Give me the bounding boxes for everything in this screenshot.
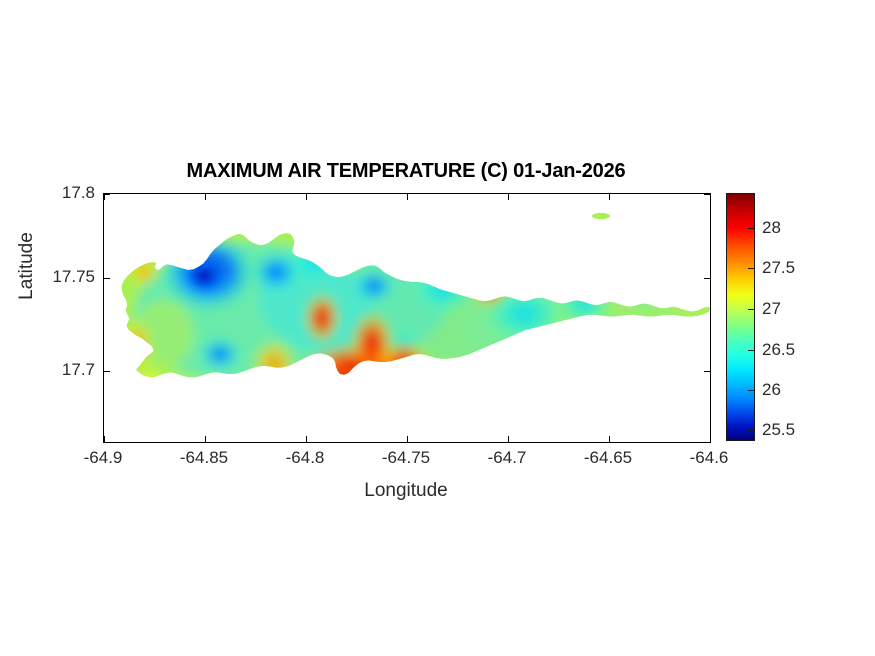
y-tick-mark xyxy=(104,194,110,195)
y-tick-label: 17.7 xyxy=(33,360,95,380)
colorbar-tick-mark xyxy=(748,430,755,431)
colorbar-tick-label: 26.5 xyxy=(762,340,795,360)
x-tick-mark xyxy=(407,436,408,442)
x-tick-mark xyxy=(609,194,610,200)
x-tick-label: -64.9 xyxy=(84,448,123,468)
x-tick-mark xyxy=(205,436,206,442)
x-tick-label: -64.65 xyxy=(584,448,632,468)
x-tick-mark xyxy=(508,436,509,442)
y-tick-mark xyxy=(704,371,710,372)
x-tick-label: -64.6 xyxy=(690,448,729,468)
temperature-field xyxy=(104,194,710,442)
x-tick-mark xyxy=(508,194,509,200)
y-tick-mark xyxy=(704,194,710,195)
x-tick-label: -64.7 xyxy=(488,448,527,468)
colorbar-tick-mark xyxy=(748,228,755,229)
x-tick-mark xyxy=(205,194,206,200)
y-tick-label: 17.8 xyxy=(33,183,95,203)
temperature-contour-map xyxy=(104,194,710,442)
colorbar-gradient xyxy=(726,193,755,441)
x-tick-mark xyxy=(710,194,711,200)
y-tick-mark xyxy=(704,278,710,279)
x-tick-label: -64.85 xyxy=(180,448,228,468)
x-tick-mark xyxy=(104,436,105,442)
colorbar-tick-label: 27 xyxy=(762,299,781,319)
x-tick-label: -64.75 xyxy=(382,448,430,468)
figure-canvas: MAXIMUM AIR TEMPERATURE (C) 01-Jan-2026 xyxy=(0,0,875,656)
page-title: MAXIMUM AIR TEMPERATURE (C) 01-Jan-2026 xyxy=(103,160,709,183)
x-tick-mark xyxy=(407,194,408,200)
colorbar-tick-label: 27.5 xyxy=(762,258,795,278)
map-plot-area[interactable] xyxy=(103,193,711,443)
x-tick-label: -64.8 xyxy=(286,448,325,468)
colorbar[interactable]: 28 27.5 27 26.5 26 25.5 xyxy=(726,193,755,441)
x-axis-label: Longitude xyxy=(103,480,709,502)
y-tick-mark xyxy=(104,278,110,279)
y-tick-mark xyxy=(104,371,110,372)
y-axis-label: Latitude xyxy=(16,201,38,331)
colorbar-tick-label: 28 xyxy=(762,218,781,238)
colorbar-tick-label: 25.5 xyxy=(762,420,795,440)
colorbar-tick-mark xyxy=(748,390,755,391)
colorbar-tick-mark xyxy=(748,268,755,269)
x-tick-mark xyxy=(710,436,711,442)
colorbar-tick-mark xyxy=(748,309,755,310)
x-tick-mark xyxy=(306,194,307,200)
x-tick-mark xyxy=(306,436,307,442)
colorbar-tick-mark xyxy=(748,350,755,351)
colorbar-tick-label: 26 xyxy=(762,380,781,400)
x-tick-mark xyxy=(609,436,610,442)
